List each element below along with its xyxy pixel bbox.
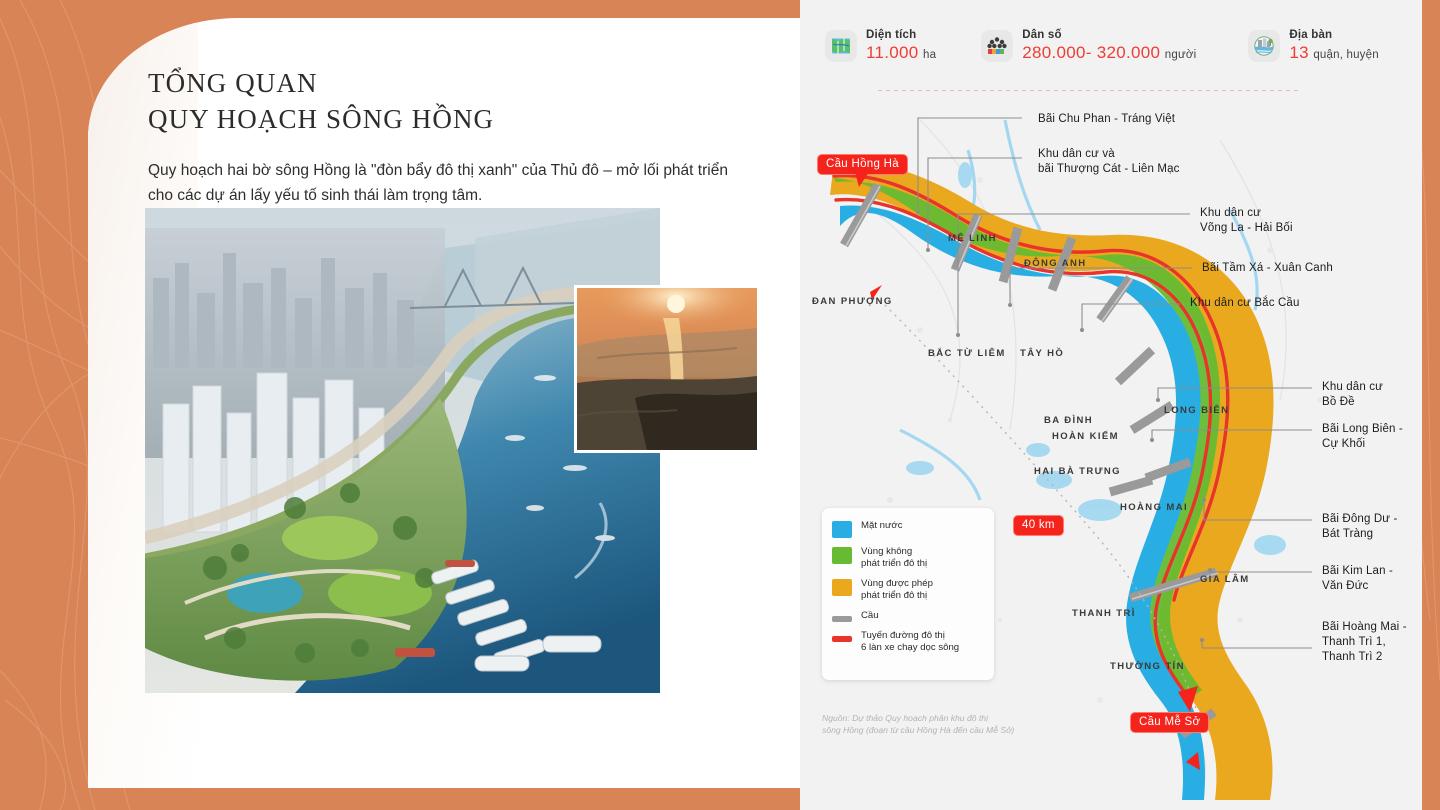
- callout-hoang-mai-bai: Bãi Hoàng Mai - Thanh Trì 1, Thanh Trì 2: [1322, 620, 1407, 666]
- map-panel: Diện tích 11.000 ha: [800, 0, 1422, 810]
- inset-photo-illustration: [577, 288, 757, 450]
- page-title-line1: TỔNG QUAN: [148, 66, 788, 102]
- district-gia-lam: GIA LÂM: [1200, 574, 1250, 585]
- legend-label-developable: Vùng được phép phát triển đô thị: [861, 578, 933, 602]
- legend-swatch-no-development: [832, 547, 852, 564]
- callout-bai-chu-phan: Bãi Chu Phan - Tráng Việt: [1038, 112, 1175, 127]
- legend-swatch-road: [832, 636, 852, 642]
- district-me-linh: MÊ LINH: [948, 233, 997, 244]
- legend-label-bridge: Cầu: [861, 610, 879, 622]
- legend-item-developable: Vùng được phép phát triển đô thị: [832, 578, 984, 602]
- district-hoan-kiem: HOÀN KIẾM: [1052, 431, 1119, 442]
- callout-kim-lan: Bãi Kim Lan - Văn Đức: [1322, 564, 1393, 594]
- district-long-bien: LONG BIÊN: [1164, 405, 1229, 416]
- district-ba-dinh: BA ĐÌNH: [1044, 415, 1093, 426]
- legend-swatch-bridge: [832, 616, 852, 622]
- badge-distance[interactable]: 40 km: [1013, 515, 1064, 536]
- legend-label-no-development: Vùng không phát triển đô thị: [861, 546, 927, 570]
- callout-dong-du: Bãi Đông Dư - Bát Tràng: [1322, 512, 1397, 542]
- page-title-line2: QUY HOẠCH SÔNG HỒNG: [148, 102, 788, 138]
- callout-thuong-cat: Khu dân cư và bãi Thượng Cát - Liên Mạc: [1038, 147, 1180, 177]
- legend-swatch-developable: [832, 579, 852, 596]
- legend-item-bridge: Cầu: [832, 610, 984, 622]
- legend-item-no-development: Vùng không phát triển đô thị: [832, 546, 984, 570]
- callout-bac-cau: Khu dân cư Bắc Cầu: [1190, 296, 1300, 311]
- legend-label-water: Mặt nước: [861, 520, 903, 532]
- legend-label-road: Tuyến đường đô thị 6 làn xe chạy dọc sôn…: [861, 630, 959, 654]
- legend-item-road: Tuyến đường đô thị 6 làn xe chạy dọc sôn…: [832, 630, 984, 654]
- district-dong-anh: ĐÔNG ANH: [1024, 258, 1087, 269]
- callout-vong-la: Khu dân cư Võng La - Hải Bối: [1200, 206, 1293, 236]
- district-tay-ho: TÂY HỒ: [1020, 348, 1064, 359]
- badge-cau-hong-ha-pointer: [855, 172, 873, 188]
- district-thuong-tin: THƯỜNG TÍN: [1110, 661, 1185, 672]
- callout-long-bien: Bãi Long Biên - Cự Khối: [1322, 422, 1403, 452]
- district-dan-phuong: ĐAN PHƯỢNG: [812, 296, 893, 307]
- district-bac-tu-liem: BẮC TỪ LIÊM: [928, 348, 1006, 359]
- page-title: TỔNG QUAN QUY HOẠCH SÔNG HỒNG: [148, 66, 788, 137]
- source-note: Nguồn: Dự thảo Quy hoạch phân khu đô thị…: [822, 712, 1082, 736]
- callout-tam-xa: Bãi Tầm Xá - Xuân Canh: [1202, 261, 1333, 276]
- legend-item-water: Mặt nước: [832, 520, 984, 538]
- callout-bo-de: Khu dân cư Bồ Đề: [1322, 380, 1383, 410]
- hero-photo-illustration: [145, 208, 660, 693]
- intro-paragraph: Quy hoạch hai bờ sông Hồng là "đòn bẩy đ…: [148, 158, 748, 208]
- inset-photo: [577, 288, 757, 450]
- map-legend: Mặt nước Vùng không phát triển đô thị Vù…: [822, 508, 994, 680]
- district-hoang-mai: HOÀNG MAI: [1120, 502, 1188, 513]
- hero-photo: [145, 208, 660, 693]
- badge-cau-me-so-pointer: [1168, 686, 1202, 716]
- legend-swatch-water: [832, 521, 852, 538]
- district-hai-ba-trung: HAI BÀ TRƯNG: [1034, 466, 1121, 477]
- district-thanh-tri: THANH TRÌ: [1072, 608, 1136, 619]
